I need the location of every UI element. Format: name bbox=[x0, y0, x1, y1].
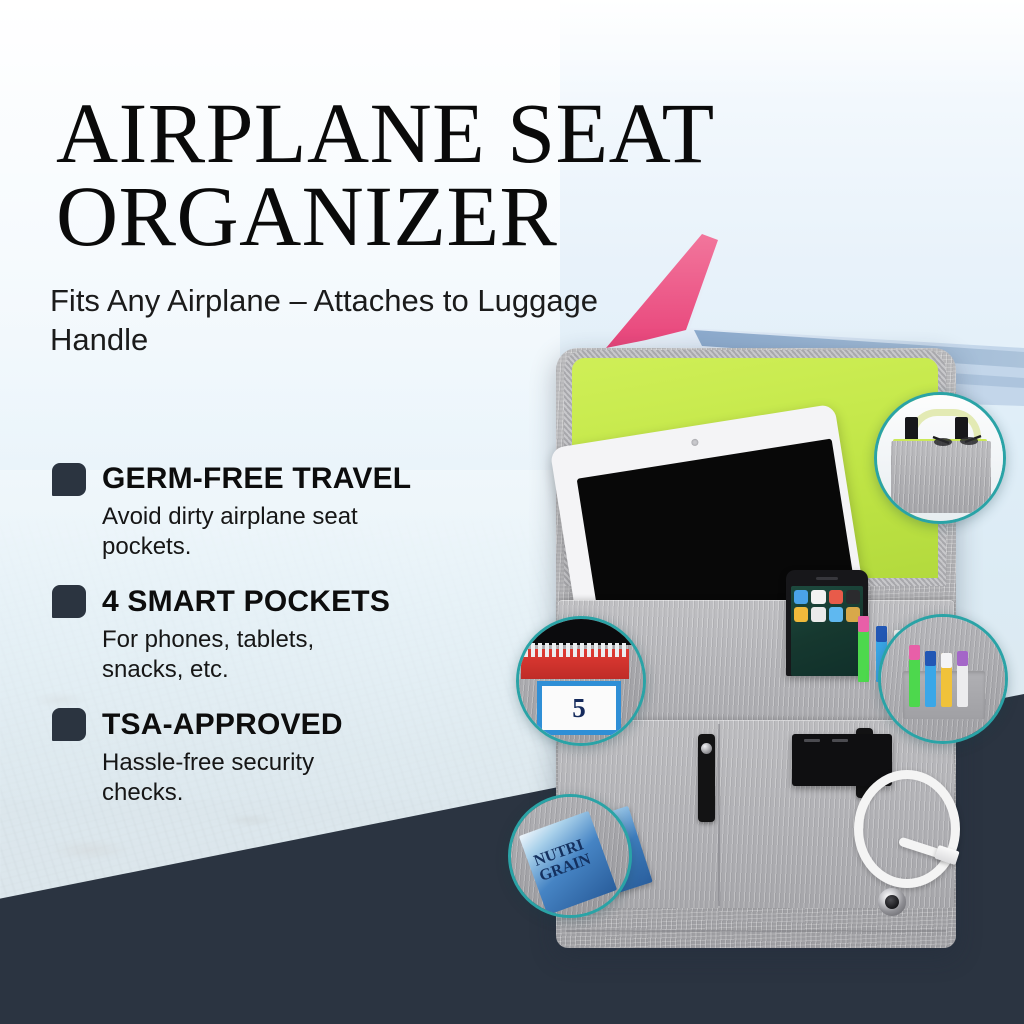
marker-pen bbox=[909, 645, 920, 707]
snack-brand-text: NUTRI GRAIN bbox=[532, 837, 593, 885]
feature-item: 4 SMART POCKETS For phones, tablets, sna… bbox=[52, 585, 522, 686]
feature-description: Avoid dirty airplane seat pockets. bbox=[102, 502, 402, 563]
power-bank-port-icon bbox=[832, 739, 848, 742]
callout-snack-pocket: NUTRI GRAIN bbox=[508, 794, 632, 918]
feature-description: For phones, tablets, snacks, etc. bbox=[102, 625, 402, 686]
pocket-divider bbox=[718, 724, 720, 906]
callout-tablet-edge bbox=[519, 619, 643, 645]
page-title: AIRPLANE SEAT ORGANIZER bbox=[56, 92, 796, 257]
notebook-spiral-icon bbox=[521, 643, 629, 657]
phone-speaker-icon bbox=[816, 577, 838, 580]
callout-content: 5 bbox=[519, 619, 643, 743]
square-bullet-icon bbox=[52, 585, 86, 618]
feature-list: GERM-FREE TRAVEL Avoid dirty airplane se… bbox=[52, 462, 522, 831]
feature-item: GERM-FREE TRAVEL Avoid dirty airplane se… bbox=[52, 462, 522, 563]
phone-app-icon bbox=[846, 590, 860, 604]
title-line-1: AIRPLANE SEAT bbox=[56, 85, 715, 181]
phone-app-icon bbox=[829, 607, 843, 621]
feature-title: GERM-FREE TRAVEL bbox=[102, 462, 411, 496]
snap-button-icon bbox=[701, 743, 712, 754]
callout-pen-pocket bbox=[878, 614, 1008, 744]
metal-grommet-icon bbox=[878, 888, 906, 916]
phone-app-icon bbox=[811, 590, 825, 604]
cable-coil bbox=[854, 770, 960, 888]
flashcard-in-callout: 5 bbox=[537, 681, 621, 735]
marker-pen bbox=[957, 651, 968, 707]
square-bullet-icon bbox=[52, 463, 86, 496]
page-subtitle: Fits Any Airplane – Attaches to Luggage … bbox=[50, 282, 610, 360]
bag-bottom-hem bbox=[566, 930, 946, 932]
snap-strap bbox=[698, 734, 715, 822]
feature-description: Hassle-free security checks. bbox=[102, 748, 402, 809]
phone-app-icon bbox=[794, 590, 808, 604]
title-line-2: ORGANIZER bbox=[56, 175, 796, 258]
eyeglasses-icon bbox=[931, 433, 983, 447]
marker-pen bbox=[925, 651, 936, 707]
feature-title: TSA-APPROVED bbox=[102, 708, 343, 742]
marker-pen bbox=[941, 653, 952, 707]
phone-app-icon bbox=[811, 607, 825, 621]
phone-app-icon bbox=[829, 590, 843, 604]
feature-title: 4 SMART POCKETS bbox=[102, 585, 390, 619]
square-bullet-icon bbox=[52, 708, 86, 741]
tablet-camera-icon bbox=[691, 438, 699, 446]
callout-content: NUTRI GRAIN bbox=[511, 797, 629, 915]
callout-content bbox=[881, 617, 1005, 741]
callout-content bbox=[877, 395, 1003, 521]
power-bank-port-icon bbox=[804, 739, 820, 742]
phone-app-icon bbox=[794, 607, 808, 621]
usb-cable bbox=[848, 766, 952, 884]
callout-notebook-pocket: 5 bbox=[516, 616, 646, 746]
callout-luggage-handle bbox=[874, 392, 1006, 524]
phone-screen bbox=[791, 586, 863, 676]
bag-top-in-callout bbox=[891, 441, 991, 513]
product-infographic: AIRPLANE SEAT ORGANIZER Fits Any Airplan… bbox=[0, 0, 1024, 1024]
marker-pen bbox=[858, 616, 869, 682]
feature-item: TSA-APPROVED Hassle-free security checks… bbox=[52, 708, 522, 809]
